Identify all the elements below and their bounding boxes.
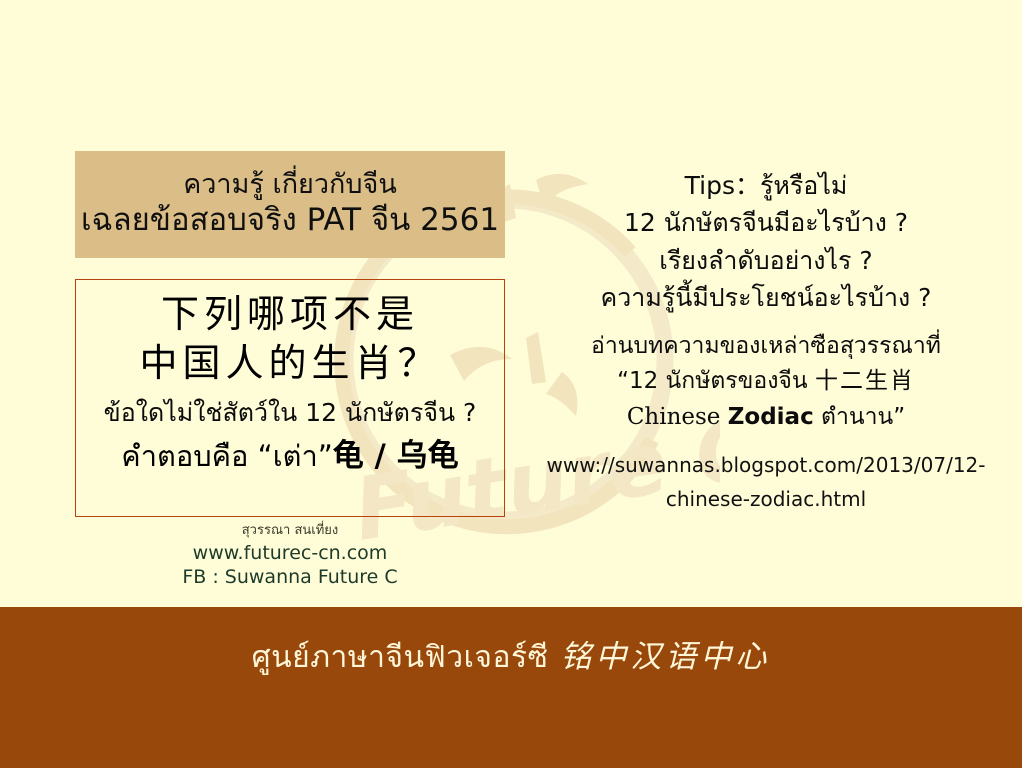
footer-bar: ศูนย์ภาษาจีนฟิวเจอร์ซี铭中汉语中心: [0, 607, 1022, 768]
credits-block: สุวรรณา สนเที่ยง www.futurec-cn.com FB :…: [75, 521, 505, 589]
question-box: 下列哪项不是 中国人的生肖？ ข้อใดไม่ใช่สัตว์ใน 12 นัก…: [75, 279, 505, 517]
footer-brand: ศูนย์ภาษาจีนฟิวเจอร์ซี铭中汉语中心: [252, 631, 771, 681]
footer-brand-thai: ศูนย์ภาษาจีนฟิวเจอร์ซี: [252, 640, 549, 675]
tips-question-2: เรียงลำดับอย่างไร ?: [520, 242, 1012, 280]
tips-question-3: ความรู้นี้มีประโยชน์อะไรบ้าง ?: [520, 279, 1012, 317]
article-title-chinese: 十二生肖: [815, 368, 915, 394]
article-url-line-1[interactable]: www://suwannas.blogspot.com/2013/07/12-: [520, 448, 1012, 482]
question-chinese-line-1: 下列哪项不是: [161, 290, 419, 339]
article-title-english: Chinese: [627, 404, 721, 430]
article-title-thai: “12 นักษัตรของจีน: [617, 368, 808, 394]
tips-question-1: 12 นักษัตรจีนมีอะไรบ้าง ?: [520, 204, 1012, 242]
title-box: ความรู้ เกี่ยวกับจีน เฉลยข้อสอบจริง PAT …: [75, 151, 505, 258]
question-thai: ข้อใดไม่ใช่สัตว์ใน 12 นักษัตรจีน ?: [104, 395, 477, 431]
title-line-2: เฉลยข้อสอบจริง PAT จีน 2561: [81, 202, 499, 239]
answer-thai: คำตอบคือ “เต่า”: [121, 439, 332, 473]
article-title-line-2: Chinese Zodiac ตำนาน”: [520, 400, 1012, 436]
tips-heading: Tips：รู้หรือไม่: [520, 168, 1012, 204]
article-url-line-2[interactable]: chinese-zodiac.html: [520, 482, 1012, 516]
credit-facebook[interactable]: FB : Suwanna Future C: [75, 566, 505, 590]
title-line-1: ความรู้ เกี่ยวกับจีน: [183, 169, 397, 200]
answer-chinese: 龟 / 乌龟: [333, 438, 459, 474]
credit-website[interactable]: www.futurec-cn.com: [75, 542, 505, 566]
credit-author: สุวรรณา สนเที่ยง: [75, 521, 505, 542]
footer-brand-chinese: 铭中汉语中心: [560, 639, 770, 675]
article-intro: อ่านบทความของเหล่าซือสุวรรณาที่: [520, 329, 1012, 365]
article-title-line-1: “12 นักษัตรของจีน 十二生肖: [520, 364, 1012, 400]
article-title-tail: ตำนาน”: [821, 404, 905, 430]
tips-block: Tips：รู้หรือไม่ 12 นักษัตรจีนมีอะไรบ้าง …: [520, 168, 1012, 516]
article-title-english-bold: Zodiac: [728, 404, 814, 430]
question-chinese-line-2: 中国人的生肖？: [139, 339, 440, 388]
answer-line: คำตอบคือ “เต่า”龟 / 乌龟: [121, 435, 458, 478]
